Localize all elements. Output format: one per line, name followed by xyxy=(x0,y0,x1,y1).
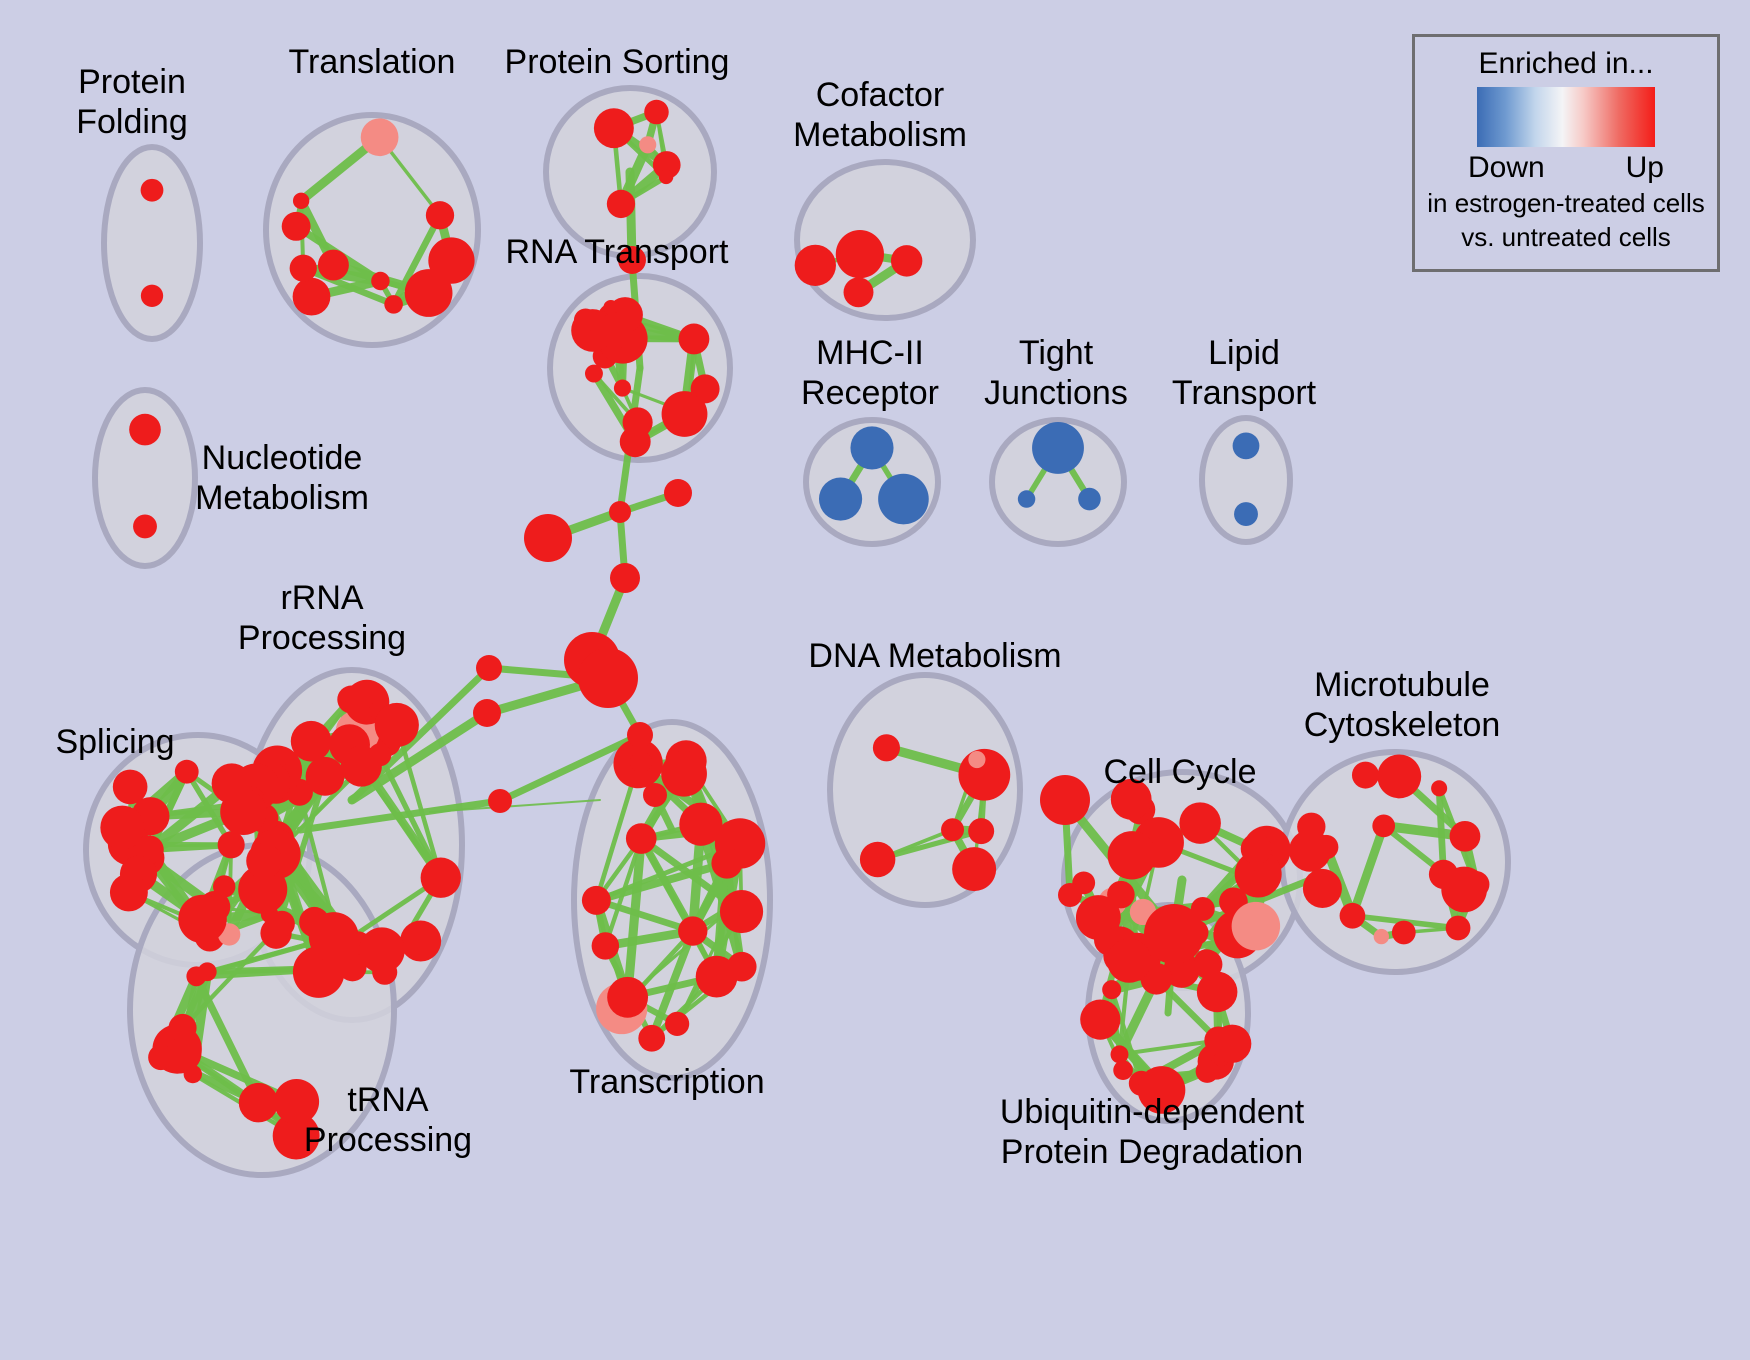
network-node[interactable] xyxy=(609,501,631,523)
network-node[interactable] xyxy=(246,843,282,879)
network-node[interactable] xyxy=(148,1045,173,1070)
network-node[interactable] xyxy=(1241,833,1272,864)
network-node[interactable] xyxy=(1058,883,1082,907)
network-node[interactable] xyxy=(1204,1026,1232,1054)
network-node[interactable] xyxy=(1374,929,1389,944)
network-node[interactable] xyxy=(198,962,217,981)
network-node[interactable] xyxy=(1450,821,1481,852)
network-node[interactable] xyxy=(400,921,441,962)
network-node[interactable] xyxy=(941,818,964,841)
network-node[interactable] xyxy=(1179,802,1221,844)
legend-subtitle-line2: vs. untreated cells xyxy=(1461,221,1671,253)
network-node[interactable] xyxy=(1372,815,1395,838)
network-node[interactable] xyxy=(607,977,648,1018)
network-node[interactable] xyxy=(141,285,163,307)
network-node[interactable] xyxy=(371,272,389,290)
network-node[interactable] xyxy=(585,365,603,383)
network-node[interactable] xyxy=(626,823,657,854)
network-node[interactable] xyxy=(1392,921,1416,945)
enrichment-network-figure: Protein FoldingTranslationProtein Sortin… xyxy=(0,0,1750,1360)
network-node[interactable] xyxy=(1144,904,1204,964)
network-node[interactable] xyxy=(110,874,148,912)
network-node[interactable] xyxy=(723,894,745,916)
network-node[interactable] xyxy=(644,100,669,125)
network-node[interactable] xyxy=(968,818,994,844)
network-node[interactable] xyxy=(610,563,640,593)
network-node[interactable] xyxy=(968,751,985,768)
network-node[interactable] xyxy=(293,278,331,316)
network-node[interactable] xyxy=(679,803,722,846)
cluster-hull xyxy=(104,147,200,339)
network-node[interactable] xyxy=(293,193,309,209)
network-node[interactable] xyxy=(1429,860,1458,889)
legend-low-label: Down xyxy=(1468,151,1545,185)
network-node[interactable] xyxy=(627,722,653,748)
network-node[interactable] xyxy=(711,848,742,879)
network-node[interactable] xyxy=(1102,980,1121,999)
network-node[interactable] xyxy=(426,201,454,229)
network-node[interactable] xyxy=(603,300,618,315)
network-node[interactable] xyxy=(639,136,656,153)
legend-title: Enriched in... xyxy=(1478,47,1653,81)
network-node[interactable] xyxy=(1303,869,1342,908)
network-node[interactable] xyxy=(618,246,646,274)
network-node[interactable] xyxy=(290,255,317,282)
network-node[interactable] xyxy=(341,746,382,787)
network-node[interactable] xyxy=(175,760,199,784)
network-node[interactable] xyxy=(213,875,235,897)
legend-box: Enriched in... Down Up in estrogen-treat… xyxy=(1412,34,1720,272)
network-node[interactable] xyxy=(679,324,710,355)
network-node[interactable] xyxy=(592,932,619,959)
network-node[interactable] xyxy=(819,477,862,520)
legend-high-label: Up xyxy=(1626,151,1664,185)
network-node[interactable] xyxy=(1078,488,1101,511)
network-node[interactable] xyxy=(844,277,874,307)
network-node[interactable] xyxy=(696,956,738,998)
network-node[interactable] xyxy=(1040,775,1090,825)
network-node[interactable] xyxy=(384,295,403,314)
network-node[interactable] xyxy=(428,237,474,283)
network-node[interactable] xyxy=(282,212,311,241)
network-node[interactable] xyxy=(1194,950,1223,979)
network-node[interactable] xyxy=(664,479,692,507)
network-node[interactable] xyxy=(873,734,900,761)
network-node[interactable] xyxy=(952,847,996,891)
network-node[interactable] xyxy=(1111,779,1152,820)
network-node[interactable] xyxy=(269,911,295,937)
network-node[interactable] xyxy=(473,699,501,727)
legend-subtitle-line1: in estrogen-treated cells xyxy=(1427,187,1704,219)
network-node[interactable] xyxy=(212,763,252,803)
network-node[interactable] xyxy=(1138,1066,1186,1114)
network-node[interactable] xyxy=(1107,881,1135,909)
network-node[interactable] xyxy=(630,751,652,773)
network-node[interactable] xyxy=(850,426,893,469)
network-node[interactable] xyxy=(488,789,512,813)
network-node[interactable] xyxy=(1196,1060,1219,1083)
network-node[interactable] xyxy=(878,474,929,525)
network-node[interactable] xyxy=(133,514,157,538)
network-node[interactable] xyxy=(669,394,707,432)
network-node[interactable] xyxy=(1431,780,1447,796)
network-node[interactable] xyxy=(574,308,597,331)
cluster-hull xyxy=(797,162,973,318)
network-node[interactable] xyxy=(678,916,707,945)
network-node[interactable] xyxy=(129,414,161,446)
network-node[interactable] xyxy=(141,179,164,202)
network-node[interactable] xyxy=(795,245,836,286)
network-node[interactable] xyxy=(178,895,226,943)
network-node[interactable] xyxy=(597,313,633,349)
network-node[interactable] xyxy=(1446,916,1471,941)
network-node[interactable] xyxy=(1297,813,1325,841)
network-node[interactable] xyxy=(1377,754,1421,798)
network-node[interactable] xyxy=(1247,870,1270,893)
network-node[interactable] xyxy=(582,886,611,915)
network-node[interactable] xyxy=(661,751,707,797)
network-node[interactable] xyxy=(891,245,922,276)
network-node[interactable] xyxy=(1108,831,1156,879)
network-node[interactable] xyxy=(524,514,572,562)
network-node[interactable] xyxy=(1113,1060,1133,1080)
network-node[interactable] xyxy=(578,648,638,708)
network-node[interactable] xyxy=(1352,762,1379,789)
network-node[interactable] xyxy=(1340,903,1366,929)
network-node[interactable] xyxy=(476,655,502,681)
network-node[interactable] xyxy=(1018,490,1035,507)
network-node[interactable] xyxy=(1111,1045,1129,1063)
network-node[interactable] xyxy=(1234,502,1258,526)
network-node[interactable] xyxy=(623,407,653,437)
network-node[interactable] xyxy=(421,858,461,898)
network-node[interactable] xyxy=(274,1079,319,1124)
network-node[interactable] xyxy=(309,912,359,962)
legend-endpoints: Down Up xyxy=(1468,151,1664,185)
network-node[interactable] xyxy=(1232,902,1280,950)
network-node[interactable] xyxy=(659,170,673,184)
network-node[interactable] xyxy=(860,842,895,877)
network-node[interactable] xyxy=(643,783,667,807)
network-node[interactable] xyxy=(594,108,634,148)
network-node[interactable] xyxy=(638,1025,665,1052)
network-node[interactable] xyxy=(218,831,245,858)
network-node[interactable] xyxy=(665,1012,689,1036)
network-node[interactable] xyxy=(1233,433,1260,460)
network-node[interactable] xyxy=(361,118,399,156)
network-node[interactable] xyxy=(168,1014,196,1042)
network-node[interactable] xyxy=(293,1126,310,1143)
network-node[interactable] xyxy=(1080,1000,1120,1040)
network-node[interactable] xyxy=(1032,422,1084,474)
network-node[interactable] xyxy=(1107,939,1151,983)
network-node[interactable] xyxy=(607,190,635,218)
network-node[interactable] xyxy=(836,230,884,278)
network-node[interactable] xyxy=(239,1083,278,1122)
legend-color-gradient xyxy=(1477,87,1655,147)
network-node[interactable] xyxy=(1463,871,1490,898)
network-node[interactable] xyxy=(291,721,332,762)
network-node[interactable] xyxy=(375,703,419,747)
network-node[interactable] xyxy=(318,250,349,281)
network-node[interactable] xyxy=(614,380,631,397)
